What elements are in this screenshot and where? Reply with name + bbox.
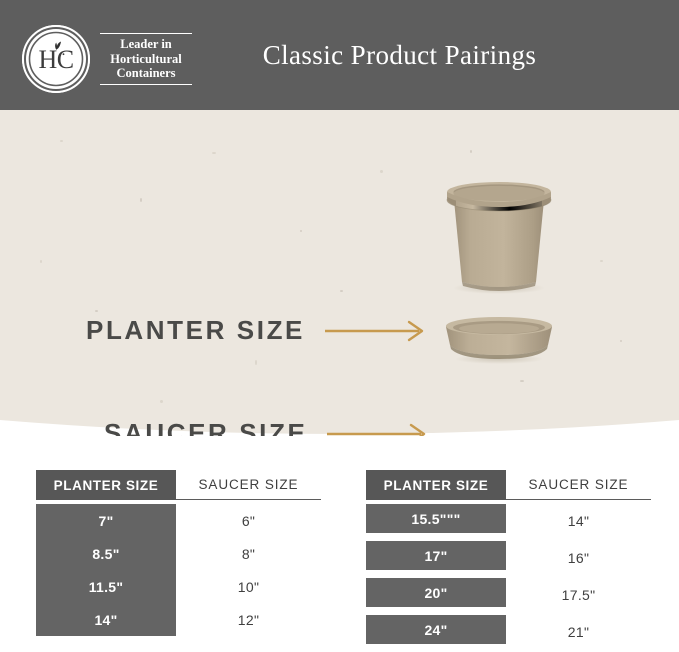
arrow-right-icon (325, 422, 435, 437)
cell-planter-size: 8.5" (36, 537, 176, 570)
cell-saucer-size: 16" (506, 541, 651, 574)
saucer-size-callout: SAUCER SIZE (104, 418, 435, 436)
hero-panel: PLANTER SIZE SAUCER SIZE (0, 110, 679, 436)
brand-logo: HC Leader in Horticultural Containers (22, 25, 192, 93)
saucer-size-label: SAUCER SIZE (104, 418, 307, 436)
cell-planter-size: 20" (366, 578, 506, 607)
table-header-row: PLANTER SIZE SAUCER SIZE (366, 470, 651, 500)
cell-planter-size: 11.5" (36, 570, 176, 603)
column-header-planter: PLANTER SIZE (366, 470, 506, 500)
cell-planter-size: 24" (366, 615, 506, 644)
hc-monogram-icon: HC (22, 25, 90, 93)
arrow-right-icon (323, 319, 433, 343)
cell-saucer-size: 17.5" (506, 578, 651, 611)
cell-planter-size: 17" (366, 541, 506, 570)
table-row: 14" 12" (36, 603, 321, 636)
size-chart-tables: PLANTER SIZE SAUCER SIZE 7" 6" 8.5" 8" 1… (0, 470, 679, 636)
saucer-dish-image (438, 305, 560, 372)
cell-saucer-size: 21" (506, 615, 651, 648)
planter-size-callout: PLANTER SIZE (86, 315, 433, 346)
cell-saucer-size: 10" (176, 570, 321, 603)
table-row: 15.5""" 14" (366, 504, 651, 537)
planter-pot-image (438, 170, 560, 300)
table-row: 11.5" 10" (36, 570, 321, 603)
header-bar: HC Leader in Horticultural Containers Cl… (0, 0, 679, 110)
table-row: 20" 17.5" (366, 578, 651, 611)
brand-tagline: Leader in Horticultural Containers (100, 33, 192, 85)
table-body: 7" 6" 8.5" 8" 11.5" 10" 14" 12" (36, 504, 321, 636)
cell-saucer-size: 14" (506, 504, 651, 537)
cell-saucer-size: 6" (176, 504, 321, 537)
column-header-saucer: SAUCER SIZE (176, 470, 321, 500)
table-row: 24" 21" (366, 615, 651, 648)
table-row: 8.5" 8" (36, 537, 321, 570)
cell-planter-size: 15.5""" (366, 504, 506, 533)
table-body: 15.5""" 14" 17" 16" 20" 17.5" 24" 21" (366, 504, 651, 648)
cell-saucer-size: 8" (176, 537, 321, 570)
column-header-saucer: SAUCER SIZE (506, 470, 651, 500)
table-header-row: PLANTER SIZE SAUCER SIZE (36, 470, 321, 500)
table-row: 17" 16" (366, 541, 651, 574)
svg-text:HC: HC (38, 45, 73, 74)
infographic-page: HC Leader in Horticultural Containers Cl… (0, 0, 679, 636)
cell-saucer-size: 12" (176, 603, 321, 636)
size-table-large: PLANTER SIZE SAUCER SIZE 15.5""" 14" 17"… (366, 470, 651, 652)
cell-planter-size: 7" (36, 504, 176, 537)
hc-monogram-glyph: HC (26, 29, 86, 89)
size-table-small: PLANTER SIZE SAUCER SIZE 7" 6" 8.5" 8" 1… (36, 470, 321, 636)
hero-texture-background (0, 110, 679, 436)
cell-planter-size: 14" (36, 603, 176, 636)
table-row: 7" 6" (36, 504, 321, 537)
column-header-planter: PLANTER SIZE (36, 470, 176, 500)
planter-size-label: PLANTER SIZE (86, 315, 305, 346)
